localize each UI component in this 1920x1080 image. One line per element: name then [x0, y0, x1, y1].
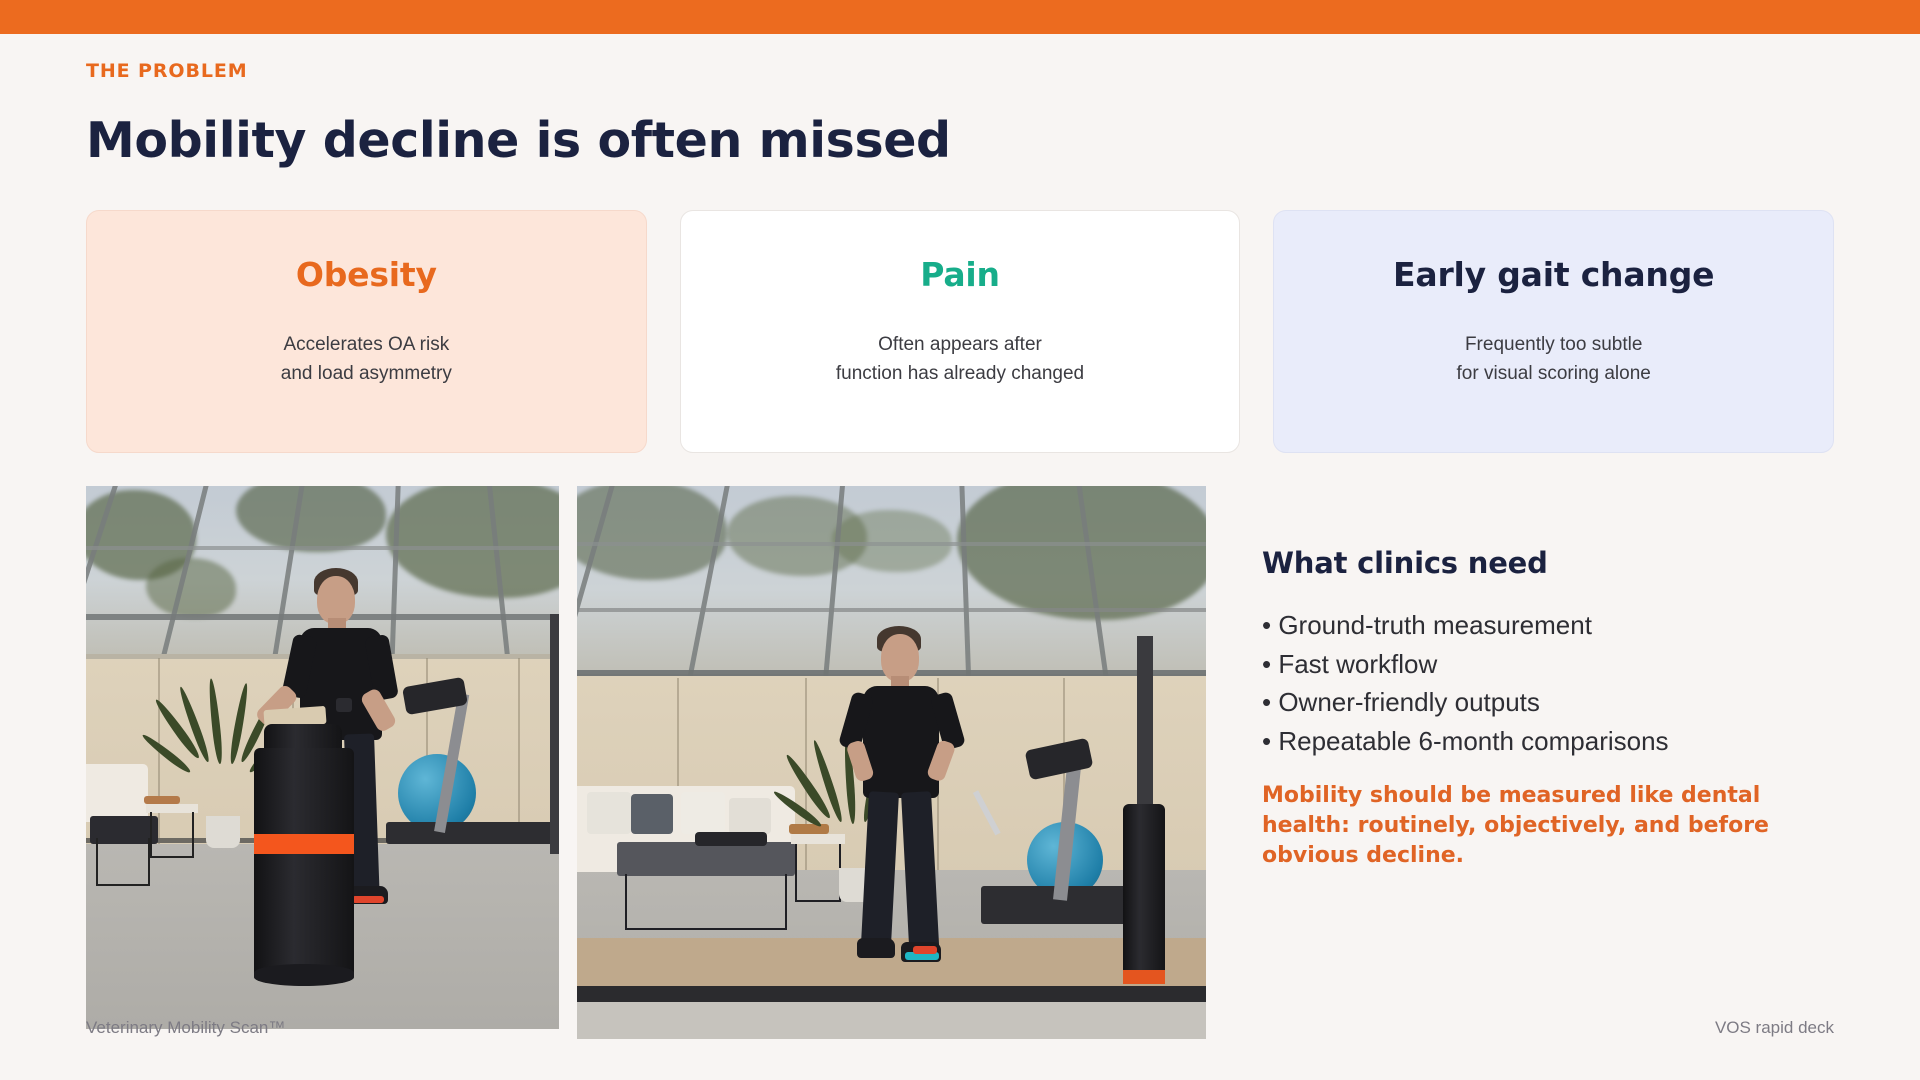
- needs-list: Ground-truth measurement Fast workflow O…: [1262, 608, 1834, 759]
- list-item: Ground-truth measurement: [1262, 608, 1834, 644]
- card-obesity-body: Accelerates OA risk and load asymmetry: [113, 331, 620, 389]
- deck-label: VOS rapid deck: [1715, 1018, 1834, 1038]
- list-item: Repeatable 6-month comparisons: [1262, 724, 1834, 760]
- footer-captions: Veterinary Mobility Scan™ VOS rapid deck: [0, 1018, 1920, 1038]
- card-early-gait-change-body-line1: Frequently too subtle: [1300, 331, 1807, 360]
- photo-room-wide: [577, 486, 1206, 1039]
- problem-cards: Obesity Accelerates OA risk and load asy…: [86, 210, 1834, 453]
- card-pain: Pain Often appears after function has al…: [680, 210, 1241, 453]
- slide-content: THE PROBLEM Mobility decline is often mi…: [0, 60, 1920, 1039]
- card-early-gait-change-body: Frequently too subtle for visual scoring…: [1300, 331, 1807, 389]
- photo-device-closeup: [86, 486, 559, 1029]
- list-item: Owner-friendly outputs: [1262, 685, 1834, 721]
- photo-caption-left: Veterinary Mobility Scan™: [86, 1018, 285, 1038]
- card-pain-body: Often appears after function has already…: [707, 331, 1214, 389]
- list-item: Fast workflow: [1262, 647, 1834, 683]
- card-obesity-body-line1: Accelerates OA risk: [113, 331, 620, 360]
- page-title: Mobility decline is often missed: [86, 112, 1834, 169]
- card-early-gait-change-body-line2: for visual scoring alone: [1300, 360, 1807, 389]
- what-clinics-need-panel: What clinics need Ground-truth measureme…: [1224, 486, 1834, 871]
- card-pain-body-line1: Often appears after: [707, 331, 1214, 360]
- media-and-needs-row: What clinics need Ground-truth measureme…: [86, 486, 1834, 1039]
- card-early-gait-change: Early gait change Frequently too subtle …: [1273, 210, 1834, 453]
- card-early-gait-change-title: Early gait change: [1300, 255, 1807, 294]
- card-obesity: Obesity Accelerates OA risk and load asy…: [86, 210, 647, 453]
- card-pain-title: Pain: [707, 255, 1214, 294]
- card-obesity-title: Obesity: [113, 255, 620, 294]
- callout-statement: Mobility should be measured like dental …: [1262, 781, 1792, 871]
- needs-heading: What clinics need: [1262, 546, 1834, 580]
- card-obesity-body-line2: and load asymmetry: [113, 360, 620, 389]
- card-pain-body-line2: function has already changed: [707, 360, 1214, 389]
- eyebrow-label: THE PROBLEM: [86, 60, 1834, 82]
- brand-top-bar: [0, 0, 1920, 34]
- slide: THE PROBLEM Mobility decline is often mi…: [0, 0, 1920, 1080]
